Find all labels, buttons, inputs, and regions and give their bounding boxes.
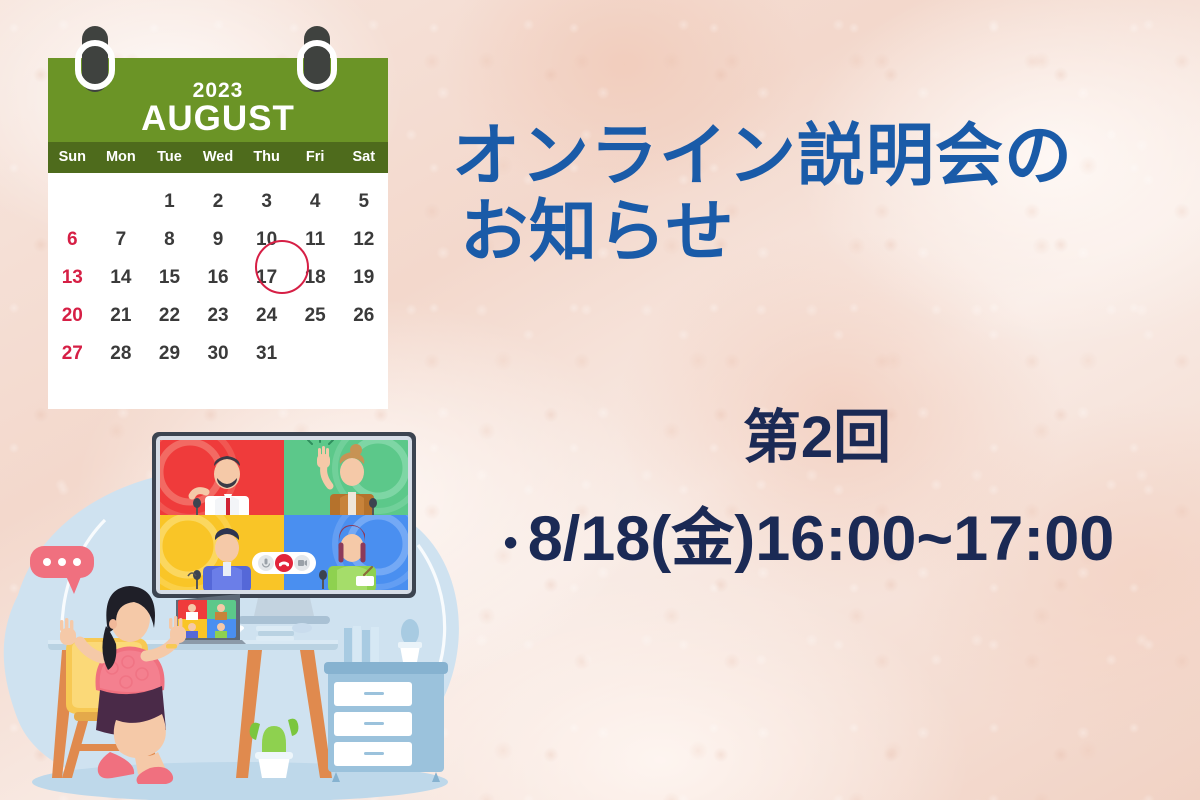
calendar-weekday: Wed xyxy=(194,142,243,173)
calendar-day: 13 xyxy=(48,259,97,297)
calendar-day: 14 xyxy=(97,259,146,297)
calendar-grid: 1 2 3 4 5 6 7 8 9 10 11 12 13 14 15 16 1… xyxy=(48,173,388,409)
calendar-card: 2023 AUGUST Sun Mon Tue Wed Thu Fri Sat … xyxy=(48,58,388,409)
calendar-day xyxy=(97,183,146,221)
calendar-weekday: Thu xyxy=(242,142,291,173)
calendar-week-row: 27 28 29 30 31 xyxy=(48,335,388,373)
page-title-line2: お知らせ xyxy=(452,194,1182,270)
laptop-screen xyxy=(178,600,236,639)
calendar-day: 21 xyxy=(97,297,146,335)
calendar-binding-clip-left xyxy=(82,26,108,92)
calendar-day: 12 xyxy=(339,221,388,259)
event-datetime: •8/18(金)16:00~17:00 xyxy=(424,488,1194,579)
session-number: 第2回 xyxy=(452,406,1182,470)
online-meeting-illustration xyxy=(0,400,480,800)
calendar-year: 2023 xyxy=(193,80,244,101)
video-tile-3 xyxy=(144,502,284,592)
calendar-day: 10 xyxy=(242,221,291,259)
monitor xyxy=(144,425,421,624)
calendar-day xyxy=(291,335,340,373)
calendar-day: 27 xyxy=(48,335,97,373)
calendar-day: 16 xyxy=(194,259,243,297)
calendar-day: 6 xyxy=(48,221,97,259)
calendar-day: 23 xyxy=(194,297,243,335)
calendar-day: 20 xyxy=(48,297,97,335)
calendar-week-row: 20 21 22 23 24 25 26 xyxy=(48,297,388,335)
calendar-day: 8 xyxy=(145,221,194,259)
calendar-day: 22 xyxy=(145,297,194,335)
video-tile-1 xyxy=(145,427,284,518)
bullet-icon: • xyxy=(504,521,528,565)
calendar-day xyxy=(48,183,97,221)
calendar-day: 2 xyxy=(194,183,243,221)
calendar-day: 1 xyxy=(145,183,194,221)
calendar-weekday: Fri xyxy=(291,142,340,173)
calendar-day: 26 xyxy=(339,297,388,335)
calendar-day-highlighted: 18 xyxy=(291,259,340,297)
calendar-weekday: Sun xyxy=(48,142,97,173)
calendar-weekday: Sat xyxy=(339,142,388,173)
calendar-day: 17 xyxy=(242,259,291,297)
page-title-line1: オンライン説明会の xyxy=(452,118,1182,194)
calendar-day: 29 xyxy=(145,335,194,373)
calendar-month: AUGUST xyxy=(141,101,295,138)
calendar-week-row: 6 7 8 9 10 11 12 xyxy=(48,221,388,259)
calendar-day: 4 xyxy=(291,183,340,221)
calendar-day: 11 xyxy=(291,221,340,259)
calendar-weekday-header: Sun Mon Tue Wed Thu Fri Sat xyxy=(48,142,388,173)
calendar-day: 31 xyxy=(242,335,291,373)
calendar-day xyxy=(339,335,388,373)
calendar-day: 5 xyxy=(339,183,388,221)
calendar-binding-clip-right xyxy=(304,26,330,92)
calendar-day: 24 xyxy=(242,297,291,335)
call-controls xyxy=(252,552,316,574)
calendar-day: 9 xyxy=(194,221,243,259)
calendar-week-row: 1 2 3 4 5 xyxy=(48,183,388,221)
event-datetime-text: 8/18(金)16:00~17:00 xyxy=(528,504,1115,574)
calendar-day: 3 xyxy=(242,183,291,221)
calendar-day: 19 xyxy=(339,259,388,297)
calendar-day: 7 xyxy=(97,221,146,259)
page-title: オンライン説明会の お知らせ xyxy=(452,118,1182,270)
calendar-day: 25 xyxy=(291,297,340,335)
calendar-day: 30 xyxy=(194,335,243,373)
calendar-day: 15 xyxy=(145,259,194,297)
calendar-weekday: Tue xyxy=(145,142,194,173)
calendar-day: 28 xyxy=(97,335,146,373)
calendar-week-row: 13 14 15 16 17 18 19 xyxy=(48,259,388,297)
calendar-weekday: Mon xyxy=(97,142,146,173)
